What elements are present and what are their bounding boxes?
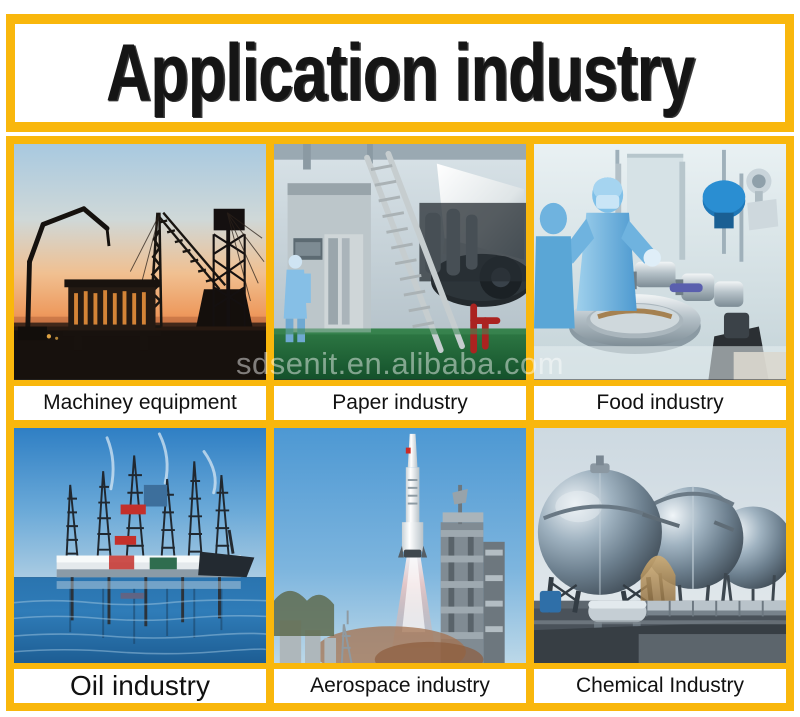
caption-food-industry: Food industry	[534, 386, 786, 420]
chemical-industry-illustration	[534, 428, 786, 664]
photo-aerospace-industry	[274, 428, 526, 664]
grid-cell-food-industry[interactable]: Food industry	[534, 144, 786, 420]
photo-food-industry	[534, 144, 786, 380]
caption-text: Oil industry	[70, 670, 210, 702]
grid-cell-aerospace-industry[interactable]: Aerospace industry	[274, 428, 526, 704]
caption-machinery-equipment: Machiney equipment	[14, 386, 266, 420]
paper-industry-illustration	[274, 144, 526, 380]
industry-grid: Machiney equipment	[6, 136, 794, 711]
caption-oil-industry: Oil industry	[14, 669, 266, 703]
photo-oil-industry	[14, 428, 266, 664]
caption-paper-industry: Paper industry	[274, 386, 526, 420]
caption-text: Aerospace industry	[310, 674, 490, 698]
oil-industry-illustration	[14, 428, 266, 664]
grid-cell-chemical-industry[interactable]: Chemical Industry	[534, 428, 786, 704]
caption-text: Paper industry	[332, 391, 467, 415]
caption-text: Chemical Industry	[576, 674, 744, 698]
caption-chemical-industry: Chemical Industry	[534, 669, 786, 703]
photo-paper-industry	[274, 144, 526, 380]
caption-text: Food industry	[596, 391, 723, 415]
grid-cell-machinery-equipment[interactable]: Machiney equipment	[14, 144, 266, 420]
caption-text: Machiney equipment	[43, 391, 237, 415]
photo-chemical-industry	[534, 428, 786, 664]
photo-machinery-equipment	[14, 144, 266, 380]
page-title: Application industry	[106, 33, 694, 114]
grid-cell-oil-industry[interactable]: Oil industry	[14, 428, 266, 704]
food-industry-illustration	[534, 144, 786, 380]
aerospace-industry-illustration	[274, 428, 526, 664]
machinery-equipment-illustration	[14, 144, 266, 380]
caption-aerospace-industry: Aerospace industry	[274, 669, 526, 703]
grid-cell-paper-industry[interactable]: Paper industry	[274, 144, 526, 420]
title-banner: Application industry	[6, 14, 794, 132]
application-industry-banner: Application industry	[0, 0, 800, 717]
